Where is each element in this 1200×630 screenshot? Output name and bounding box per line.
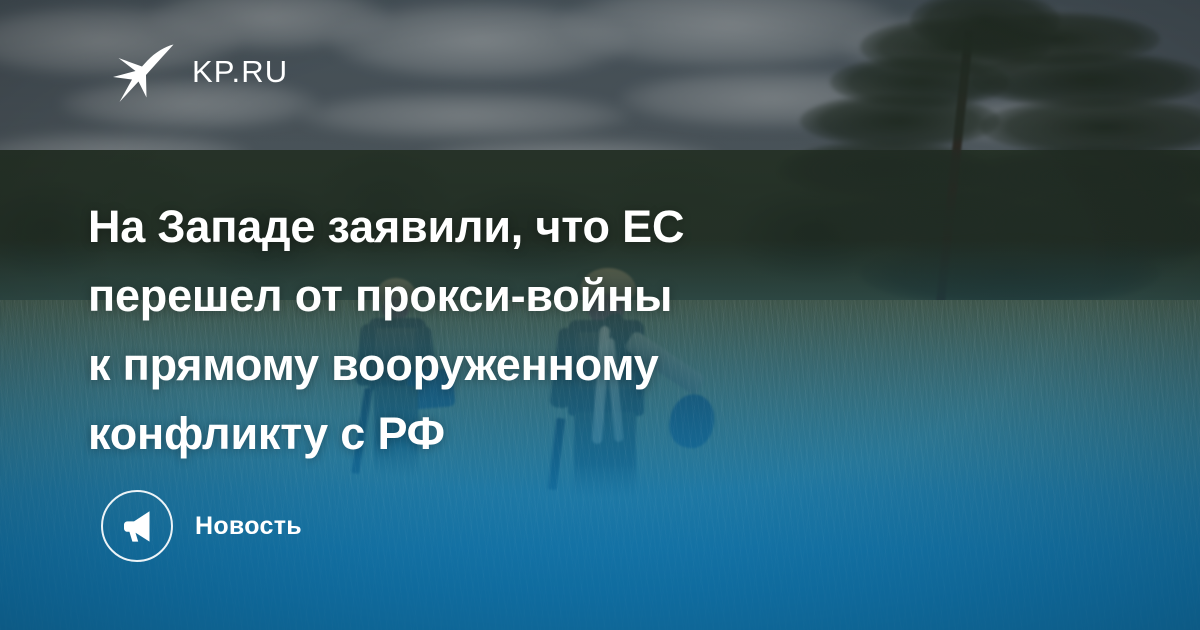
brand-logo[interactable]: KP.RU xyxy=(108,36,288,107)
card-content: KP.RU На Западе заявили, что ЕС перешел … xyxy=(0,0,1200,630)
megaphone-icon xyxy=(101,490,173,562)
brand-name: KP.RU xyxy=(192,56,288,87)
page-title: На Западе заявили, что ЕС перешел от про… xyxy=(88,192,888,468)
news-share-card: KP.RU На Западе заявили, что ЕС перешел … xyxy=(0,0,1200,630)
swallow-bird-icon xyxy=(108,36,174,107)
badge-label: Новость xyxy=(195,514,302,539)
status-badge[interactable]: Новость xyxy=(101,490,302,562)
